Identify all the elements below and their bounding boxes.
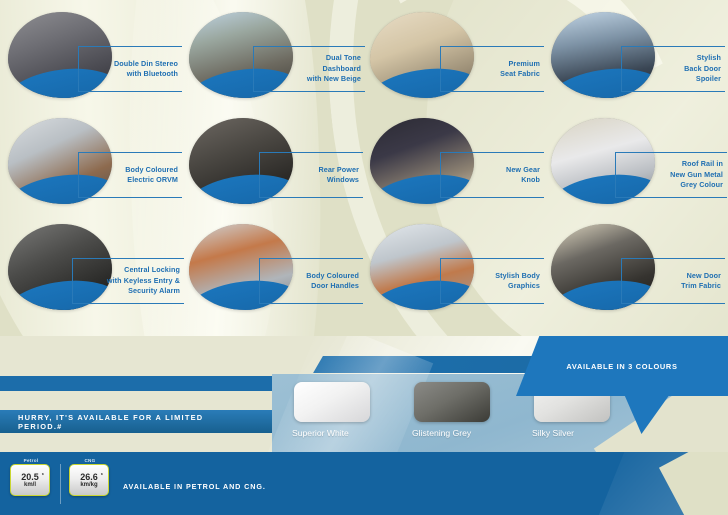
label-line: with New Beige <box>257 74 361 85</box>
feature-label-door-handles: Body ColouredDoor Handles <box>259 258 363 304</box>
brochure-page: Double Din Stereowith BluetoothDual Tone… <box>0 0 728 515</box>
feature-label-premium-seat-fabric: PremiumSeat Fabric <box>440 46 544 92</box>
label-line: Double Din Stereo <box>82 59 178 70</box>
mileage-value-box: 26.6*km/kg <box>69 464 109 496</box>
feature-label-double-din-stereo: Double Din Stereowith Bluetooth <box>78 46 182 92</box>
swatch-chip[interactable] <box>294 382 370 422</box>
feature-rear-power-windows: Rear PowerWindows <box>185 116 367 221</box>
footnote-marker: * <box>101 471 103 481</box>
label-line: New Gear <box>444 165 540 176</box>
label-line: Central Locking <box>76 265 180 276</box>
label-line: Security Alarm <box>76 286 180 297</box>
swatch-name: Glistening Grey <box>408 428 504 438</box>
feature-door-trim-fabric: New DoorTrim Fabric <box>547 222 728 327</box>
label-line: Body Coloured <box>263 271 359 282</box>
mileage-badge-cng: CNG26.6*km/kg <box>69 458 111 496</box>
label-line: Premium <box>444 59 540 70</box>
fuel-availability-text: AVAILABLE IN PETROL AND CNG. <box>123 482 266 491</box>
label-line: Trim Fabric <box>625 281 721 292</box>
label-line: Stylish Body <box>444 271 540 282</box>
label-line: New Gun Metal <box>619 170 723 181</box>
mileage-unit: km/kg <box>80 482 97 489</box>
feature-premium-seat-fabric: PremiumSeat Fabric <box>366 10 548 115</box>
feature-door-handles: Body ColouredDoor Handles <box>185 222 367 327</box>
label-line: Knob <box>444 175 540 186</box>
colour-swatch-white[interactable]: Superior White <box>288 382 384 438</box>
feature-electric-orvm: Body ColouredElectric ORVM <box>4 116 186 221</box>
mileage-number: 26.6* <box>80 472 98 482</box>
label-line: Dashboard <box>257 64 361 75</box>
label-line: Electric ORVM <box>82 175 178 186</box>
mileage-badges: Petrol20.5*km/lCNG26.6*km/kgAVAILABLE IN… <box>10 458 266 504</box>
colours-callout: AVAILABLE IN 3 COLOURS <box>516 336 728 396</box>
label-line: Spoiler <box>625 74 721 85</box>
mileage-badge-petrol: Petrol20.5*km/l <box>10 458 52 496</box>
feature-label-electric-orvm: Body ColouredElectric ORVM <box>78 152 182 198</box>
promo-band: HURRY, IT'S AVAILABLE FOR A LIMITED PERI… <box>0 336 728 456</box>
label-line: Grey Colour <box>619 180 723 191</box>
colour-swatch-grey[interactable]: Glistening Grey <box>408 382 504 438</box>
label-line: Seat Fabric <box>444 69 540 80</box>
feature-label-central-locking: Central Lockingwith Keyless Entry &Secur… <box>72 258 184 304</box>
feature-grid: Double Din Stereowith BluetoothDual Tone… <box>0 6 728 336</box>
footnote-marker: * <box>42 471 44 481</box>
label-line: Rear Power <box>263 165 359 176</box>
feature-new-gear-knob: New GearKnob <box>366 116 548 221</box>
label-line: Dual Tone <box>257 53 361 64</box>
feature-label-body-graphics: Stylish BodyGraphics <box>440 258 544 304</box>
swatch-name: Superior White <box>288 428 384 438</box>
label-line: New Door <box>625 271 721 282</box>
mileage-unit: km/l <box>24 482 36 489</box>
label-line: Back Door <box>625 64 721 75</box>
label-line: Graphics <box>444 281 540 292</box>
mileage-divider <box>60 464 61 504</box>
feature-dual-tone-dashboard: Dual ToneDashboardwith New Beige <box>185 10 367 115</box>
feature-label-dual-tone-dashboard: Dual ToneDashboardwith New Beige <box>253 46 365 92</box>
limited-period-text: HURRY, IT'S AVAILABLE FOR A LIMITED PERI… <box>18 414 248 430</box>
feature-label-rear-power-windows: Rear PowerWindows <box>259 152 363 198</box>
mileage-value-box: 20.5*km/l <box>10 464 50 496</box>
label-line: Roof Rail in <box>619 159 723 170</box>
feature-central-locking: Central Lockingwith Keyless Entry &Secur… <box>4 222 186 327</box>
feature-double-din-stereo: Double Din Stereowith Bluetooth <box>4 10 186 115</box>
feature-roof-rail: Roof Rail inNew Gun MetalGrey Colour <box>547 116 728 221</box>
mileage-number: 20.5* <box>21 472 39 482</box>
feature-body-graphics: Stylish BodyGraphics <box>366 222 548 327</box>
label-line: Body Coloured <box>82 165 178 176</box>
callout-text: AVAILABLE IN 3 COLOURS <box>516 336 728 396</box>
feature-label-door-trim-fabric: New DoorTrim Fabric <box>621 258 725 304</box>
feature-label-new-gear-knob: New GearKnob <box>440 152 544 198</box>
feature-label-roof-rail: Roof Rail inNew Gun MetalGrey Colour <box>615 152 727 198</box>
fuel-type-label: Petrol <box>10 458 52 463</box>
footer-bar: Petrol20.5*km/lCNG26.6*km/kgAVAILABLE IN… <box>0 452 728 515</box>
label-line: Door Handles <box>263 281 359 292</box>
feature-label-back-door-spoiler: StylishBack DoorSpoiler <box>621 46 725 92</box>
feature-back-door-spoiler: StylishBack DoorSpoiler <box>547 10 728 115</box>
label-line: with Bluetooth <box>82 69 178 80</box>
swatch-chip[interactable] <box>414 382 490 422</box>
fuel-type-label: CNG <box>69 458 111 463</box>
label-line: Stylish <box>625 53 721 64</box>
band-stripe-mid <box>0 376 294 391</box>
label-line: Windows <box>263 175 359 186</box>
label-line: with Keyless Entry & <box>76 276 180 287</box>
